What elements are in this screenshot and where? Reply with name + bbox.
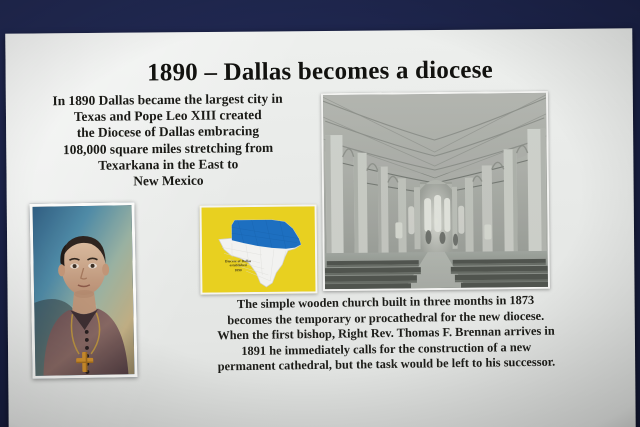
bishop-portrait-photo [29,202,137,379]
intro-paragraph: In 1890 Dallas became the largest city i… [21,90,314,190]
caption-paragraph: The simple wooden church built in three … [183,292,588,375]
placard-content: 1890 – Dallas becomes a diocese In 1890 … [0,0,640,427]
placard-title: 1890 – Dallas becomes a diocese [0,55,640,89]
map-label-line: 1890 [210,268,266,273]
intro-line: 108,000 square miles stretching from [22,139,314,158]
bishop-portrait-illustration [33,205,135,376]
intro-line: In 1890 Dallas became the largest city i… [21,90,313,109]
texas-diocese-map-graphic: Diocese of Dallas established 1890 [200,204,318,294]
intro-line: New Mexico [22,171,314,190]
texas-map-illustration [202,206,316,292]
photograph-of-exhibit-placard: 1890 – Dallas becomes a diocese In 1890 … [0,0,640,427]
map-label: Diocese of Dallas established 1890 [210,259,266,273]
church-interior-photo [321,91,550,291]
church-interior-illustration [323,93,548,289]
